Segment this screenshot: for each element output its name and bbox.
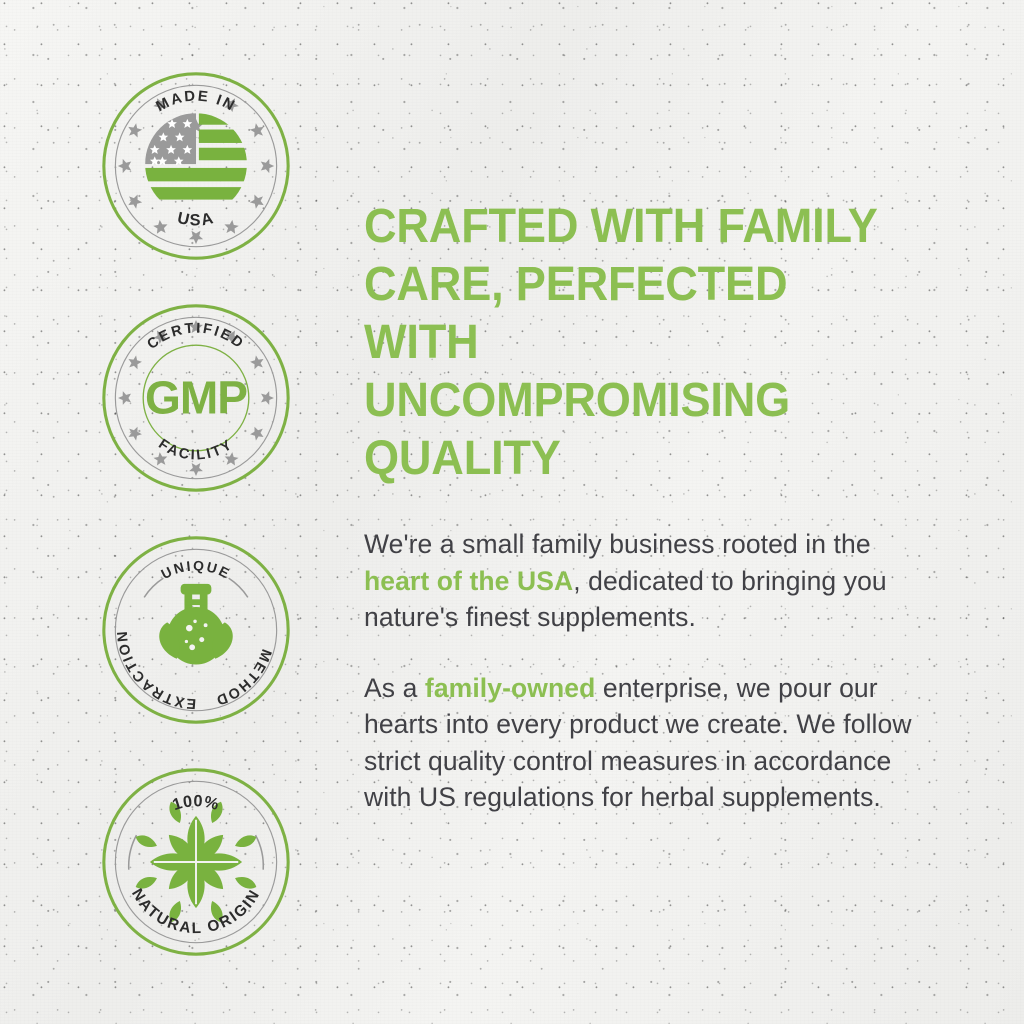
- gmp-certified-badge-icon: GMP CERTIFIED FACILITY: [100, 302, 292, 494]
- badge-bottom-label: FACILITY: [155, 436, 236, 463]
- headline-line-4: QUALITY: [364, 432, 561, 485]
- headline-line-2: CARE, PERFECTED WITH: [364, 258, 787, 369]
- paragraph-1-highlight: heart of the USA: [364, 566, 573, 596]
- gmp-center-label: GMP: [145, 371, 247, 423]
- svg-text:100%: 100%: [170, 792, 221, 814]
- unique-extraction-method-badge-icon: UNIQUE EXTRACTION METHOD: [100, 534, 292, 726]
- badge-right-label: METHOD: [213, 647, 274, 708]
- page-title: CRAFTED WITH FAMILY CARE, PERFECTED WITH…: [364, 198, 890, 488]
- content-text-column: CRAFTED WITH FAMILY CARE, PERFECTED WITH…: [364, 198, 924, 816]
- badge-made-in-usa: MADE IN USA: [100, 70, 292, 262]
- svg-text:MADE IN: MADE IN: [154, 88, 239, 115]
- svg-text:UNIQUE: UNIQUE: [158, 557, 233, 582]
- badge-gmp-certified: GMP CERTIFIED FACILITY: [100, 302, 292, 494]
- headline-line-3: UNCOMPROMISING: [364, 374, 790, 427]
- paragraph-2-segment-1: As a: [364, 673, 425, 703]
- brand-quality-panel: MADE IN USA: [0, 0, 1024, 1024]
- paragraph-1-segment-1: We're a small family business rooted in …: [364, 529, 871, 559]
- svg-text:METHOD: METHOD: [213, 647, 274, 708]
- natural-origin-badge-icon: 100% NATURAL ORIGIN: [100, 766, 292, 958]
- made-in-usa-badge-icon: MADE IN USA: [100, 70, 292, 262]
- badge-natural-origin: 100% NATURAL ORIGIN: [100, 766, 292, 958]
- body-paragraph-1: We're a small family business rooted in …: [364, 526, 924, 636]
- flask-with-leaves-icon: [159, 584, 233, 665]
- body-paragraph-2: As a family-owned enterprise, we pour ou…: [364, 670, 924, 816]
- svg-text:USA: USA: [176, 209, 217, 230]
- paragraph-2-highlight: family-owned: [425, 673, 596, 703]
- svg-text:FACILITY: FACILITY: [155, 436, 236, 463]
- badge-bottom-label: USA: [176, 209, 217, 230]
- certification-badge-column: MADE IN USA: [100, 70, 292, 958]
- badge-top-label: MADE IN: [154, 88, 239, 115]
- badge-top-label: UNIQUE: [158, 557, 233, 582]
- headline-line-1: CRAFTED WITH FAMILY: [364, 200, 878, 253]
- badge-unique-extraction-method: UNIQUE EXTRACTION METHOD: [100, 534, 292, 726]
- badge-top-label: 100%: [170, 792, 221, 814]
